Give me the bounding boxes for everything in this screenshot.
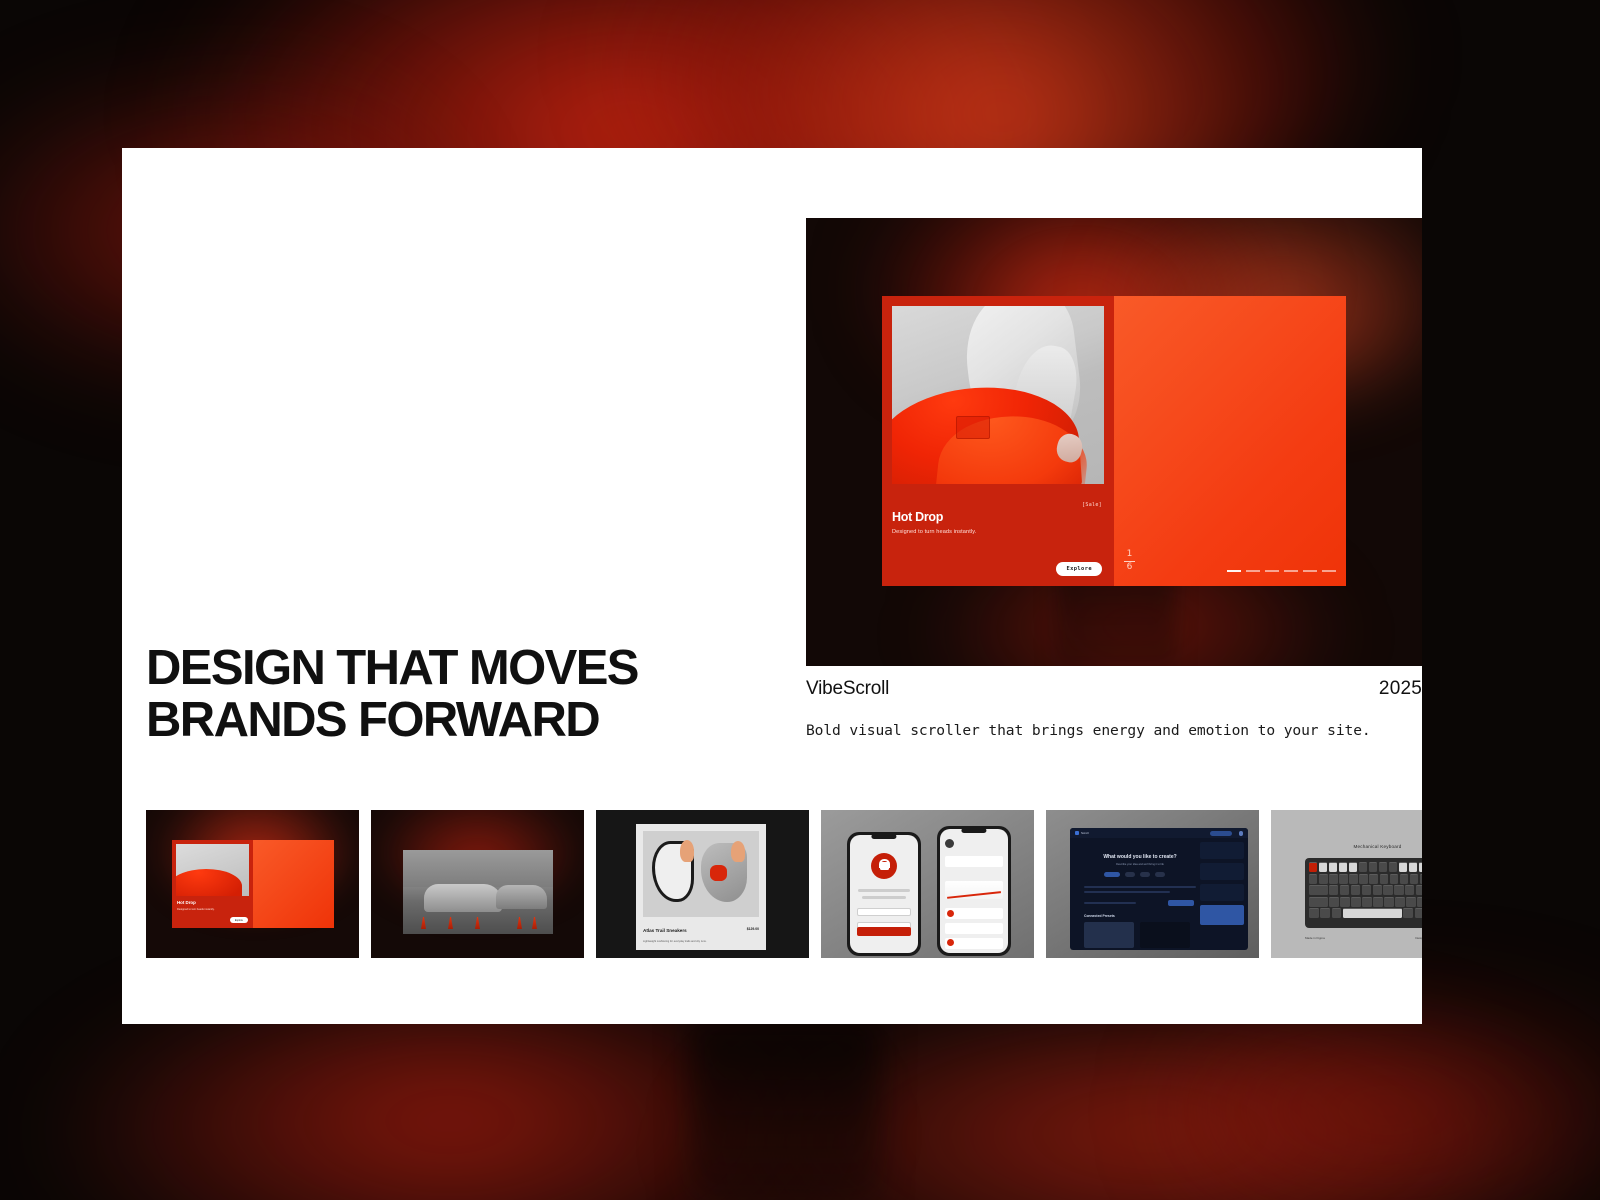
- key: [1359, 862, 1367, 872]
- prompt-chip-row: [1104, 872, 1165, 877]
- key: [1320, 908, 1330, 918]
- prompt-chip: [1104, 872, 1120, 877]
- keyboard-row: [1309, 874, 1422, 884]
- keyboard-row: [1309, 885, 1422, 895]
- hero-slide-tag: [Sale]: [1082, 502, 1102, 508]
- counter-current: 1: [1124, 550, 1135, 559]
- key: [1309, 862, 1317, 872]
- product-image: [643, 831, 759, 917]
- key: [1329, 897, 1338, 907]
- project-year: 2025: [1379, 678, 1422, 700]
- phone-mockup-lock: [847, 832, 921, 956]
- hero-slide[interactable]: [Sale] Hot Drop Designed to turn heads i…: [882, 296, 1346, 586]
- sneaker-accent: [680, 840, 694, 862]
- product-name: Atlas Trail Sneakers: [643, 928, 687, 933]
- sneaker-detail: [710, 865, 726, 880]
- dashboard-prompt-subtitle: Describe your idea and we'll bring it to…: [1084, 863, 1196, 866]
- product-price: $129.00: [747, 927, 759, 931]
- thumb-slide-title: Hot Drop: [177, 900, 196, 905]
- key: [1403, 908, 1413, 918]
- thumb-slide-right: [253, 840, 334, 928]
- portfolio-card: [Sale] Hot Drop Designed to turn heads i…: [122, 148, 1422, 1024]
- product-description: Lightweight cushioning for everyday trai…: [643, 940, 739, 943]
- keyboard-row: [1309, 862, 1422, 872]
- dashboard-section-title: Connected Presets: [1084, 914, 1115, 918]
- key: [1399, 862, 1407, 872]
- key: [1417, 897, 1422, 907]
- keyboard-footer-right: Designed by Don R Joulie: [1415, 936, 1422, 940]
- key: [1329, 862, 1337, 872]
- progress-dash[interactable]: [1246, 570, 1260, 572]
- key: [1340, 897, 1349, 907]
- hero-slide-counter: 1 6: [1124, 550, 1135, 572]
- hero-slide-title: Hot Drop: [892, 510, 1104, 524]
- keyboard-footer-left: Made in Figma: [1305, 936, 1325, 940]
- key: [1329, 885, 1338, 895]
- keyboard-row: [1309, 908, 1422, 918]
- phone-screen: [940, 829, 1008, 953]
- text-line: [862, 896, 906, 899]
- phone-screen: [850, 835, 918, 953]
- text-line: [1084, 902, 1136, 904]
- lock-icon: [871, 853, 897, 879]
- key: [1379, 862, 1387, 872]
- hero-preview[interactable]: [Sale] Hot Drop Designed to turn heads i…: [806, 218, 1422, 666]
- hero-slide-right-panel: 1 6: [1114, 296, 1346, 586]
- key: [1415, 908, 1422, 918]
- key: [1319, 874, 1327, 884]
- progress-dash[interactable]: [1265, 570, 1279, 572]
- thumb-slide: Hot Drop Designed to turn heads instantl…: [172, 840, 334, 928]
- key: [1394, 885, 1403, 895]
- sneaker-accent: [731, 841, 745, 862]
- profile-header: [945, 839, 1003, 849]
- key: [1389, 862, 1397, 872]
- prompt-chip: [1125, 872, 1135, 877]
- silhouette-shadow: [690, 1020, 880, 1200]
- avatar: [1239, 831, 1244, 836]
- project-description: Bold visual scroller that brings energy …: [806, 720, 1416, 743]
- photo-pocket: [956, 416, 990, 439]
- upgrade-pill: [1210, 831, 1232, 836]
- photo-cone: [532, 917, 537, 929]
- list-item: [945, 923, 1003, 934]
- thumbnail-sneaker-card[interactable]: Atlas Trail Sneakers $129.00 Lightweight…: [596, 810, 809, 958]
- key: [1309, 897, 1328, 907]
- thumb-photo: [403, 850, 553, 934]
- key: [1419, 862, 1422, 872]
- list-item-icon: [947, 910, 954, 917]
- key: [1319, 862, 1327, 872]
- key: [1362, 885, 1371, 895]
- key: [1369, 874, 1377, 884]
- thumbnail-garage-photo[interactable]: [371, 810, 584, 958]
- photo-car: [424, 884, 502, 913]
- input-field: [857, 908, 911, 916]
- key: [1395, 897, 1404, 907]
- project-name: VibeScroll: [806, 678, 889, 700]
- photo-cone: [517, 917, 522, 929]
- hero-slide-photo: [892, 306, 1104, 484]
- dashboard-window: Scroll What would you like to create? De…: [1070, 828, 1248, 950]
- page-backdrop: [Sale] Hot Drop Designed to turn heads i…: [0, 0, 1600, 1200]
- key: [1373, 897, 1382, 907]
- primary-button: [857, 927, 911, 936]
- key: [1351, 885, 1360, 895]
- text-line: [1084, 891, 1170, 893]
- photo-car: [496, 885, 547, 909]
- thumbnail-mobile-screens[interactable]: [821, 810, 1034, 958]
- thumbnail-hot-drop-slide[interactable]: Hot Drop Designed to turn heads instantl…: [146, 810, 359, 958]
- key: [1351, 897, 1360, 907]
- app-logo-icon: [1075, 831, 1079, 835]
- sidebar-cta: [1200, 905, 1244, 925]
- key: [1340, 885, 1349, 895]
- phone-mockup-finance: [937, 826, 1011, 956]
- keyboard-title: Mechanical Keyboard: [1271, 844, 1422, 849]
- photo-wall: [403, 850, 553, 887]
- key: [1405, 885, 1414, 895]
- thumbnail-strip[interactable]: Hot Drop Designed to turn heads instantl…: [146, 810, 1422, 958]
- key: [1384, 897, 1393, 907]
- thumb-slide-subtitle: Designed to turn heads instantly.: [177, 908, 215, 911]
- keyboard-body: [1305, 858, 1422, 928]
- progress-dash[interactable]: [1303, 570, 1317, 572]
- key: [1309, 874, 1317, 884]
- photo-cone: [475, 917, 480, 929]
- key: [1380, 874, 1388, 884]
- hero-slide-subtitle: Designed to turn heads instantly.: [892, 529, 1104, 535]
- summary-row: [945, 856, 1003, 867]
- key: [1400, 874, 1408, 884]
- preset-tile: [1084, 922, 1134, 948]
- key: [1420, 874, 1422, 884]
- thumb-slide-cta: Explore: [230, 917, 248, 923]
- preset-tile: [1140, 922, 1190, 948]
- sidebar-card: [1200, 884, 1244, 901]
- chart-area: [945, 881, 1003, 899]
- sidebar-card: [1200, 842, 1244, 859]
- hero-slide-progress-dashes[interactable]: [1227, 570, 1336, 572]
- send-button: [1168, 900, 1194, 906]
- phone-notch: [961, 828, 986, 833]
- thumb-slide-left: Hot Drop Designed to turn heads instantl…: [172, 840, 253, 928]
- avatar: [945, 839, 954, 848]
- key: [1362, 897, 1371, 907]
- sidebar-card: [1200, 863, 1244, 880]
- prompt-chip: [1155, 872, 1165, 877]
- photo-cone: [421, 917, 426, 929]
- thumbnail-ai-dashboard[interactable]: Scroll What would you like to create? De…: [1046, 810, 1259, 958]
- page-title: DESIGN THAT MOVES BRANDS FORWARD: [146, 642, 746, 747]
- key: [1359, 874, 1367, 884]
- key: [1373, 885, 1382, 895]
- key: [1410, 874, 1418, 884]
- hero-slide-left-panel: [Sale] Hot Drop Designed to turn heads i…: [882, 296, 1114, 586]
- dashboard-prompt-title: What would you like to create?: [1084, 854, 1196, 860]
- text-line: [858, 889, 910, 892]
- key: [1390, 874, 1398, 884]
- key: [1329, 874, 1337, 884]
- keyboard-row: [1309, 897, 1422, 907]
- product-card: Atlas Trail Sneakers $129.00 Lightweight…: [636, 824, 766, 950]
- thumb-slide-photo: [176, 844, 249, 896]
- key: [1406, 897, 1415, 907]
- key: [1309, 908, 1319, 918]
- hero-slide-explore-button[interactable]: Explore: [1056, 562, 1102, 576]
- phone-notch: [871, 834, 896, 839]
- progress-dash[interactable]: [1227, 570, 1241, 572]
- spacebar-key: [1343, 908, 1402, 918]
- text-line: [1084, 886, 1196, 888]
- key: [1409, 862, 1417, 872]
- thumbnail-mechanical-keyboard[interactable]: Mechanical Keyboard: [1271, 810, 1422, 958]
- project-meta-row: VibeScroll 2025: [806, 678, 1422, 700]
- key: [1339, 874, 1347, 884]
- key: [1383, 885, 1392, 895]
- progress-dash[interactable]: [1322, 570, 1336, 572]
- dashboard-sidebar: [1200, 842, 1244, 925]
- key: [1349, 862, 1357, 872]
- key: [1339, 862, 1347, 872]
- key: [1332, 908, 1342, 918]
- key: [1349, 874, 1357, 884]
- progress-dash[interactable]: [1284, 570, 1298, 572]
- key: [1309, 885, 1328, 895]
- counter-total: 6: [1124, 563, 1135, 572]
- prompt-chip: [1140, 872, 1150, 877]
- photo-cone: [448, 917, 453, 929]
- app-name: Scroll: [1081, 831, 1089, 835]
- key: [1369, 862, 1377, 872]
- key: [1416, 885, 1422, 895]
